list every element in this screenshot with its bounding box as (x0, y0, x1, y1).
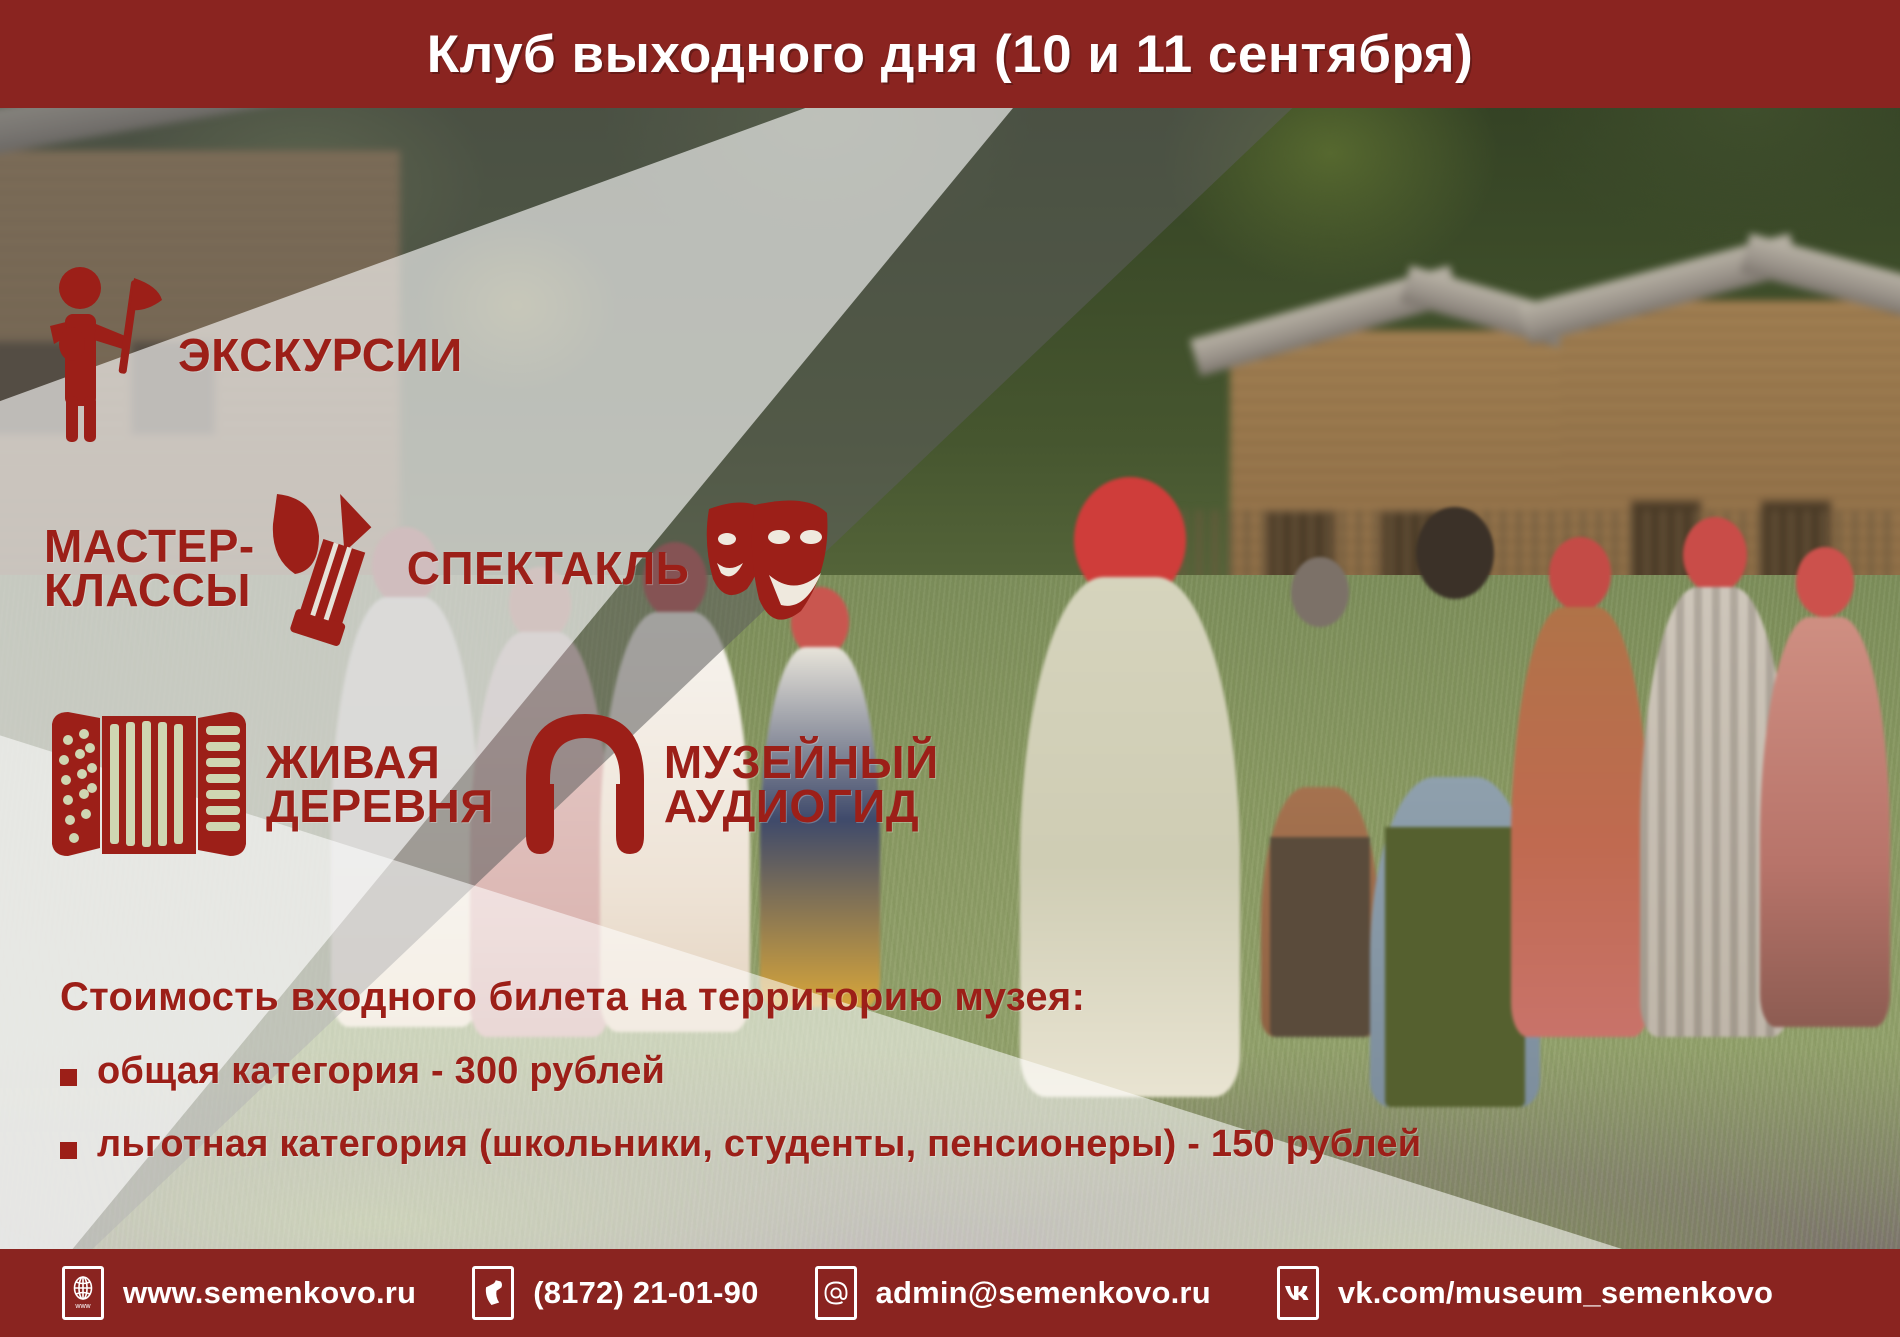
price-item: общая категория - 300 рублей (60, 1050, 1760, 1093)
contact-website[interactable]: www www.semenkovo.ru (62, 1266, 416, 1320)
feature-audioguide: МУЗЕЙНЫЙ АУДИОГИД (520, 710, 939, 858)
price-section: Стоимость входного билета на территорию … (60, 975, 1760, 1196)
feature-label: ЖИВАЯ ДЕРЕВНЯ (266, 740, 494, 828)
feature-living-village: ЖИВАЯ ДЕРЕВНЯ (46, 706, 494, 862)
theatre-masks-icon (703, 493, 833, 643)
phone-icon (472, 1266, 514, 1320)
svg-text:www: www (74, 1303, 91, 1310)
dancer (1760, 547, 1890, 1027)
feature-row-1: ЭКСКУРСИИ (46, 266, 1100, 444)
dancer (1260, 557, 1380, 1037)
dancer (1510, 537, 1650, 1037)
feature-label: МУЗЕЙНЫЙ АУДИОГИД (664, 740, 939, 828)
feature-row-3: ЖИВАЯ ДЕРЕВНЯ МУЗЕЙНЫЙ АУДИОГИД (46, 706, 1100, 862)
feature-performance: СПЕКТАКЛЬ (407, 493, 834, 643)
email-text: admin@semenkovo.ru (876, 1275, 1211, 1311)
price-item-text: общая категория - 300 рублей (97, 1050, 665, 1093)
accordion-icon (46, 706, 252, 862)
poster: Клуб выходного дня (10 и 11 сентября) (0, 0, 1900, 1337)
pencil-brush-icon (269, 488, 381, 648)
globe-www-icon: www (62, 1266, 104, 1320)
vk-text: vk.com/museum_semenkovo (1338, 1275, 1773, 1311)
bullet-icon (60, 1142, 77, 1159)
vk-icon (1277, 1266, 1319, 1320)
page-title: Клуб выходного дня (10 и 11 сентября) (427, 24, 1473, 85)
features-list: ЭКСКУРСИИ МАСТЕР- КЛАССЫ (0, 108, 1100, 862)
feature-label: СПЕКТАКЛЬ (407, 546, 690, 590)
feature-masterclasses: МАСТЕР- КЛАССЫ (44, 488, 381, 648)
bullet-icon (60, 1069, 77, 1086)
headphones-icon (520, 710, 650, 858)
contact-phone[interactable]: (8172) 21-01-90 (472, 1266, 758, 1320)
feature-excursions: ЭКСКУРСИИ (46, 266, 463, 444)
header-banner: Клуб выходного дня (10 и 11 сентября) (0, 0, 1900, 108)
price-item: льготная категория (школьники, студенты,… (60, 1123, 1760, 1166)
feature-label: ЭКСКУРСИИ (178, 333, 463, 377)
website-text: www.semenkovo.ru (123, 1275, 416, 1311)
price-title: Стоимость входного билета на территорию … (60, 975, 1760, 1020)
footer-contact-bar: www www.semenkovo.ru (8172) 21-01-90 (0, 1249, 1900, 1337)
price-item-text: льготная категория (школьники, студенты,… (97, 1123, 1421, 1166)
contact-email[interactable]: admin@semenkovo.ru (815, 1266, 1211, 1320)
at-sign-icon (815, 1266, 857, 1320)
phone-text: (8172) 21-01-90 (533, 1275, 758, 1311)
feature-label: МАСТЕР- КЛАССЫ (44, 524, 255, 612)
contact-vk[interactable]: vk.com/museum_semenkovo (1277, 1266, 1773, 1320)
tour-guide-flag-icon (46, 266, 164, 444)
feature-row-2: МАСТЕР- КЛАССЫ (44, 488, 1100, 648)
